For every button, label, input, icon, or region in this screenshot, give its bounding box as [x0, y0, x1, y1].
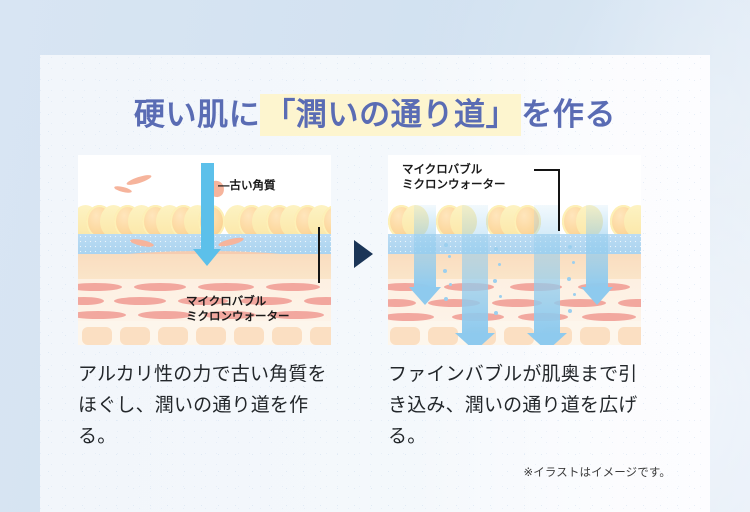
- collagen-fiber: [78, 311, 126, 319]
- leader-line-horizontal: [534, 169, 560, 171]
- fine-bubble: [494, 311, 498, 315]
- collagen-fiber: [134, 283, 186, 291]
- fine-bubble: [449, 283, 452, 286]
- hypodermis-cell: [158, 327, 188, 345]
- page-background: 硬い肌に「潤いの通り道」を作る: [0, 0, 750, 512]
- collagen-fiber: [114, 297, 166, 305]
- hypodermis-cell: [82, 327, 112, 345]
- label-line-1: マイクロバブル: [402, 164, 482, 176]
- collagen-fiber: [78, 297, 104, 305]
- fine-bubble: [498, 263, 501, 266]
- fine-bubble: [572, 261, 575, 264]
- hypodermis-cell: [428, 327, 458, 345]
- fine-bubble: [444, 243, 448, 247]
- fine-bubble: [567, 277, 571, 281]
- label-microbubble-left: マイクロバブル ミクロンウォーター: [186, 295, 290, 324]
- fine-bubble: [444, 297, 448, 301]
- hypodermis-cell: [234, 327, 264, 345]
- collagen-fiber: [138, 311, 192, 319]
- water-flow-arrow: [201, 163, 214, 249]
- bubble-jet-arrow: [534, 205, 560, 335]
- fine-bubble: [499, 295, 502, 298]
- fine-bubble: [573, 293, 576, 296]
- label-line-2: ミクロンウォーター: [186, 311, 290, 323]
- fine-bubble: [443, 269, 447, 273]
- content-card: 硬い肌に「潤いの通り道」を作る: [40, 55, 710, 512]
- collagen-fiber: [618, 299, 641, 307]
- collagen-fiber: [582, 313, 636, 321]
- bubble-jet-arrow: [586, 205, 608, 289]
- title-prefix: 硬い肌に: [134, 97, 260, 132]
- fine-bubble: [448, 255, 451, 258]
- hypodermis-cell: [310, 327, 331, 345]
- leader-line-vertical: [558, 169, 560, 231]
- fine-bubble: [568, 245, 572, 249]
- leader-line-vertical: [318, 227, 320, 283]
- label-line-2: ミクロンウォーター: [402, 179, 506, 191]
- bubble-jet-arrow: [414, 205, 436, 289]
- page-title: 硬い肌に「潤いの通り道」を作る: [40, 89, 710, 134]
- hypodermis-cell: [196, 327, 226, 345]
- hypodermis-layer: [388, 321, 641, 345]
- collagen-fiber: [266, 283, 320, 291]
- collagen-fiber: [78, 283, 122, 291]
- illustration-panel-before: ―古い角質 マイクロバブル ミクロンウォーター: [78, 155, 331, 345]
- collagen-fiber: [388, 313, 434, 321]
- title-suffix: を作る: [521, 97, 616, 132]
- triangle-right-icon: [354, 240, 373, 268]
- label-microbubble-right: マイクロバブル ミクロンウォーター: [402, 163, 506, 192]
- caption-after: ファインバブルが肌奥まで引き込み、潤いの通り道を広げる。: [388, 360, 650, 452]
- caption-before: アルカリ性の力で古い角質をほぐし、潤いの通り道を作る。: [78, 360, 340, 452]
- collagen-fiber: [304, 297, 331, 305]
- illustration-panel-after: マイクロバブル ミクロンウォーター: [388, 155, 641, 345]
- hypodermis-cell: [120, 327, 150, 345]
- fine-bubble: [568, 309, 572, 313]
- bubble-jet-arrow: [462, 205, 488, 335]
- hypodermis-cell: [580, 327, 610, 345]
- hypodermis-cell: [618, 327, 641, 345]
- label-old-keratin: ―古い角質: [218, 179, 276, 194]
- title-highlight: 「潤いの通り道」: [260, 94, 521, 136]
- label-line-1: マイクロバブル: [186, 296, 266, 308]
- hypodermis-cell: [272, 327, 302, 345]
- hypodermis-cell: [390, 327, 420, 345]
- hypodermis-layer: [78, 321, 331, 345]
- illustration-disclaimer: ※イラストはイメージです。: [388, 464, 671, 480]
- fine-bubble: [494, 247, 498, 251]
- fine-bubble: [493, 279, 497, 283]
- collagen-fiber: [198, 283, 254, 291]
